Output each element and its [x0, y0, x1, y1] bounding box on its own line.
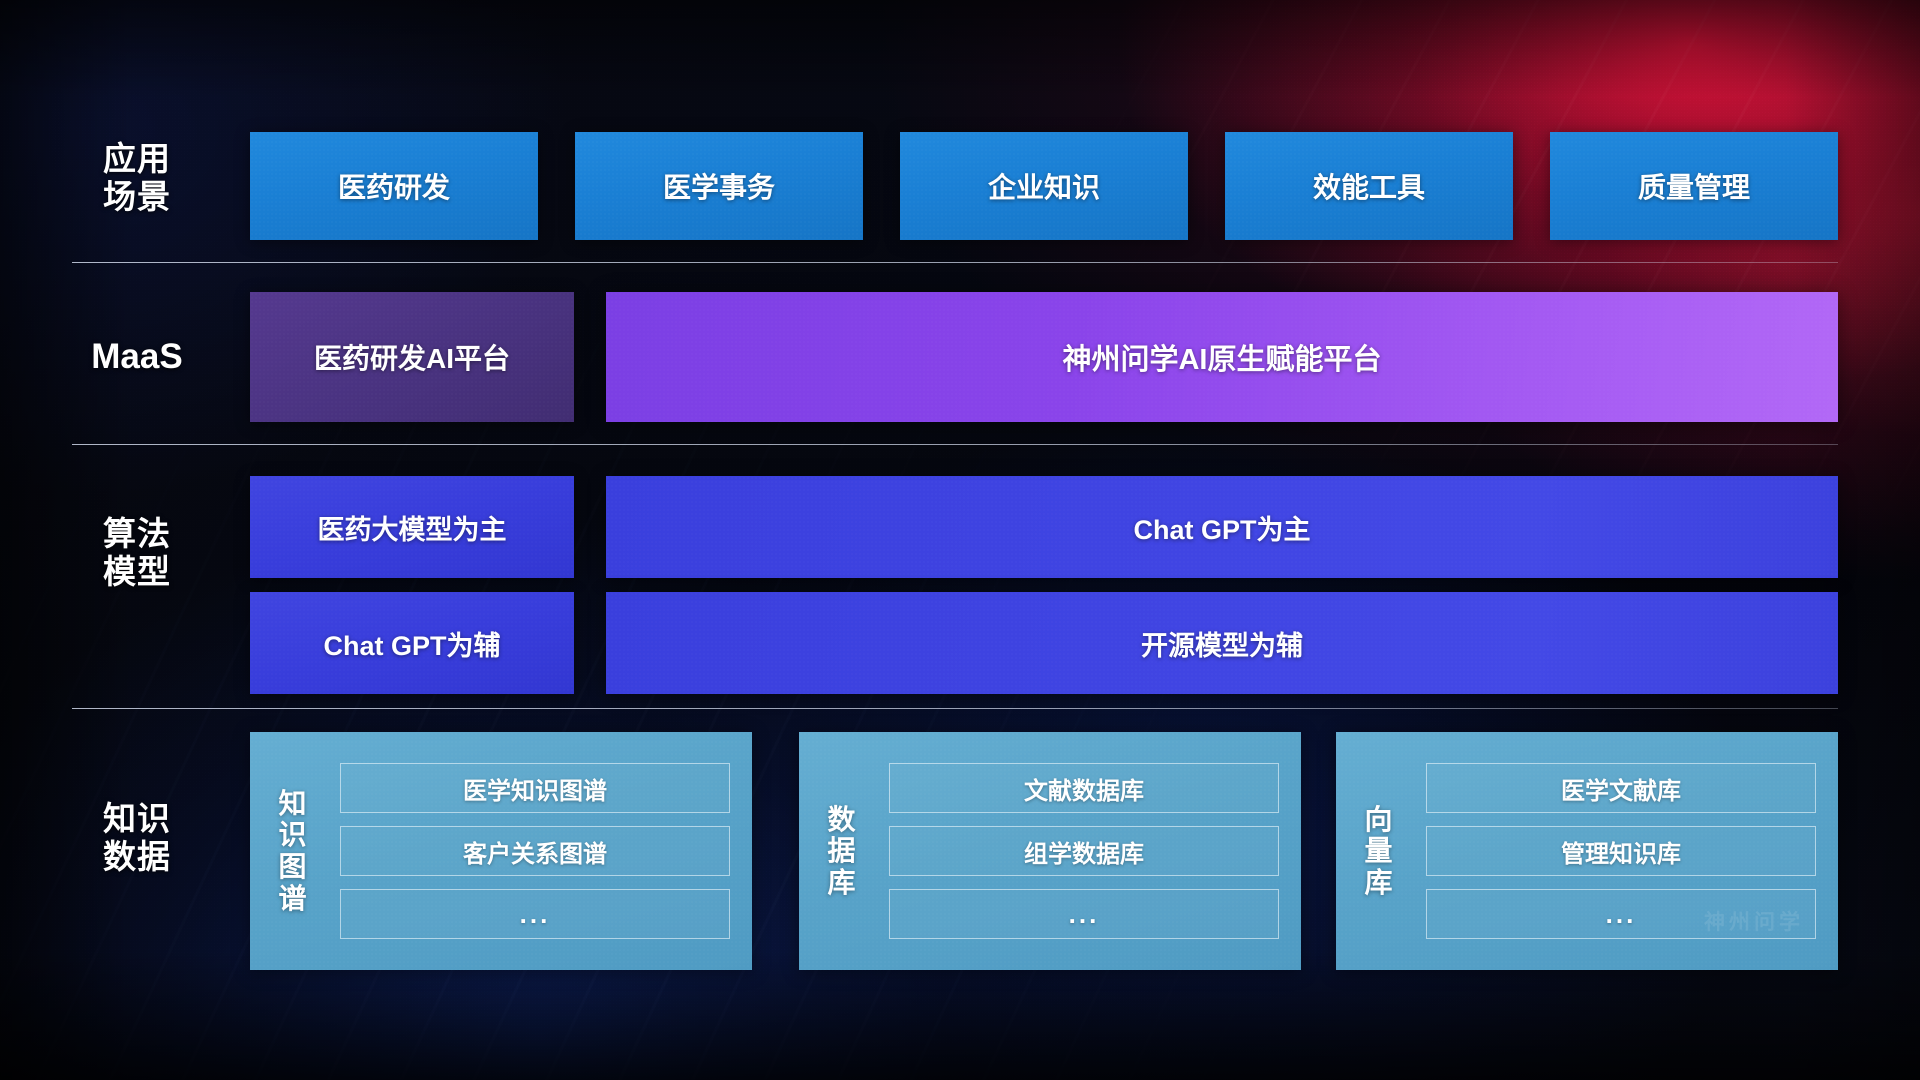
algorithm-card-label: Chat GPT为辅: [323, 624, 500, 663]
knowledge-item-list: 医学文献库 管理知识库 ...: [1422, 732, 1838, 970]
row-label-line: 场景: [72, 178, 202, 216]
side-label-char: 库: [827, 867, 856, 899]
side-label-char: 识: [278, 819, 307, 851]
knowledge-item-omics-database[interactable]: 组学数据库: [889, 826, 1279, 876]
app-card-label: 医药研发: [338, 166, 450, 206]
maas-card-medicine-ai-platform[interactable]: 医药研发AI平台: [250, 292, 574, 422]
algorithm-card-label: 开源模型为辅: [1141, 624, 1303, 663]
algorithm-card-chatgpt-secondary[interactable]: Chat GPT为辅: [250, 592, 574, 694]
row-label-line: 算法: [72, 515, 202, 553]
maas-row: 医药研发AI平台 神州问学AI原生赋能平台: [250, 292, 1838, 422]
app-card-label: 质量管理: [1638, 166, 1750, 206]
side-label-char: 谱: [278, 883, 307, 915]
divider-applications-maas: [72, 262, 1838, 263]
knowledge-panel-knowledge-graph[interactable]: 知 识 图 谱 医学知识图谱 客户关系图谱 ...: [250, 732, 752, 970]
knowledge-panel-side-label: 数 据 库: [799, 732, 885, 970]
algorithm-row-secondary: Chat GPT为辅 开源模型为辅: [250, 592, 1838, 694]
row-label-line: 应用: [72, 140, 202, 178]
knowledge-panel-vector-library[interactable]: 向 量 库 医学文献库 管理知识库 ... 神州问学: [1336, 732, 1838, 970]
algorithm-card-label: 医药大模型为主: [318, 508, 507, 547]
app-card-enterprise-knowledge[interactable]: 企业知识: [900, 132, 1188, 240]
algorithm-card-chatgpt-primary[interactable]: Chat GPT为主: [606, 476, 1838, 578]
slide-canvas: 应用 场景 医药研发 医学事务 企业知识 效能工具 质量管理 MaaS: [0, 0, 1920, 1080]
side-label-char: 知: [278, 788, 307, 820]
knowledge-panel-database[interactable]: 数 据 库 文献数据库 组学数据库 ...: [799, 732, 1301, 970]
side-label-char: 向: [1364, 804, 1393, 836]
app-card-label: 效能工具: [1313, 166, 1425, 206]
side-label-char: 图: [278, 851, 307, 883]
maas-card-label: 医药研发AI平台: [314, 337, 510, 377]
app-card-label: 企业知识: [988, 166, 1100, 206]
knowledge-panel-side-label: 知 识 图 谱: [250, 732, 336, 970]
side-label-char: 据: [827, 835, 856, 867]
app-card-medical-affairs[interactable]: 医学事务: [575, 132, 863, 240]
row-label-line: 知识: [72, 800, 202, 838]
knowledge-item-list: 文献数据库 组学数据库 ...: [885, 732, 1301, 970]
maas-card-shenzhou-wenxue-platform[interactable]: 神州问学AI原生赋能平台: [606, 292, 1838, 422]
divider-algorithm-knowledge: [72, 708, 1838, 709]
maas-card-label: 神州问学AI原生赋能平台: [1062, 336, 1381, 378]
knowledge-item-more[interactable]: ...: [1426, 889, 1816, 939]
knowledge-item-more[interactable]: ...: [340, 889, 730, 939]
row-label-line: 模型: [72, 553, 202, 591]
knowledge-item-medical-knowledge-graph[interactable]: 医学知识图谱: [340, 763, 730, 813]
row-label-maas: MaaS: [72, 337, 202, 378]
knowledge-item-more[interactable]: ...: [889, 889, 1279, 939]
app-card-label: 医学事务: [663, 166, 775, 206]
knowledge-item-list: 医学知识图谱 客户关系图谱 ...: [336, 732, 752, 970]
row-label-line: 数据: [72, 838, 202, 876]
applications-row: 医药研发 医学事务 企业知识 效能工具 质量管理: [250, 132, 1838, 240]
algorithm-row-primary: 医药大模型为主 Chat GPT为主: [250, 476, 1838, 578]
app-card-quality-management[interactable]: 质量管理: [1550, 132, 1838, 240]
row-label-applications: 应用 场景: [72, 140, 202, 217]
side-label-char: 量: [1364, 835, 1393, 867]
row-label-line: MaaS: [72, 337, 202, 378]
knowledge-row: 知 识 图 谱 医学知识图谱 客户关系图谱 ... 数 据: [250, 732, 1838, 970]
app-card-medicine-rd[interactable]: 医药研发: [250, 132, 538, 240]
algorithm-card-label: Chat GPT为主: [1133, 508, 1310, 547]
knowledge-item-customer-relation-graph[interactable]: 客户关系图谱: [340, 826, 730, 876]
knowledge-item-medical-literature-library[interactable]: 医学文献库: [1426, 763, 1816, 813]
app-card-efficiency-tools[interactable]: 效能工具: [1225, 132, 1513, 240]
divider-maas-algorithm: [72, 444, 1838, 445]
row-label-algorithm: 算法 模型: [72, 515, 202, 592]
algorithm-card-opensource-secondary[interactable]: 开源模型为辅: [606, 592, 1838, 694]
side-label-char: 库: [1364, 867, 1393, 899]
algorithm-card-medicine-llm-primary[interactable]: 医药大模型为主: [250, 476, 574, 578]
row-label-knowledge: 知识 数据: [72, 800, 202, 877]
knowledge-item-literature-database[interactable]: 文献数据库: [889, 763, 1279, 813]
knowledge-panel-side-label: 向 量 库: [1336, 732, 1422, 970]
knowledge-item-management-knowledge-library[interactable]: 管理知识库: [1426, 826, 1816, 876]
diagram-content: 应用 场景 医药研发 医学事务 企业知识 效能工具 质量管理 MaaS: [0, 0, 1920, 1080]
side-label-char: 数: [827, 804, 856, 836]
